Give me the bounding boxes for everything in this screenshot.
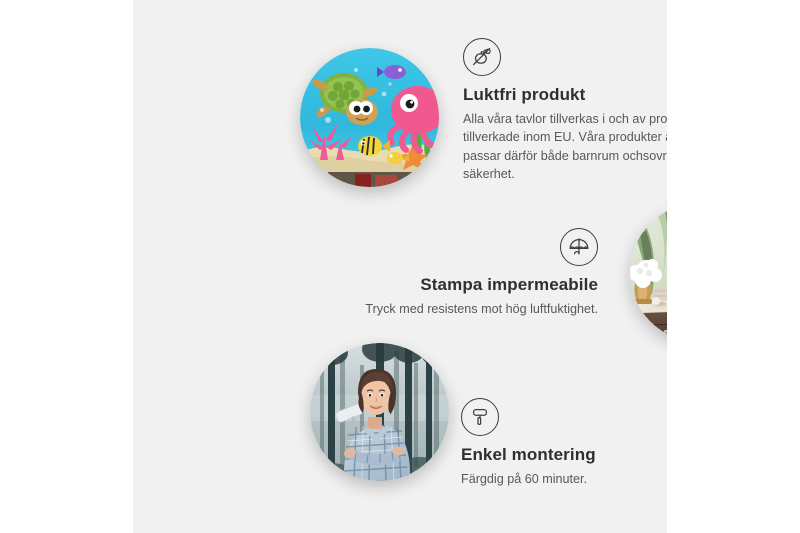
photo-forest xyxy=(310,343,449,481)
feature-waterproof-body: Tryck med resistens mot hög luftfuktighe… xyxy=(333,300,598,319)
photo-underwater xyxy=(300,48,439,187)
feature-waterproof-icon-wrap xyxy=(333,228,598,266)
feature-waterproof: Stampa impermeabile Tryck med resistens … xyxy=(333,228,598,318)
feature-odorless: Luktfri produkt Alla våra tavlor tillver… xyxy=(463,38,667,184)
feature-odorless-body: Alla våra tavlor tillverkas i och av pro… xyxy=(463,110,667,185)
perfume-bottle-crossed-out-icon xyxy=(463,38,501,76)
feature-easy-mount: Enkel montering Färgdig på 60 minuter. xyxy=(461,398,667,488)
content-panel: Luktfri produkt Alla våra tavlor tillver… xyxy=(133,0,667,533)
promo-feature-panel: Luktfri produkt Alla våra tavlor tillver… xyxy=(0,0,800,533)
feature-waterproof-title: Stampa impermeabile xyxy=(333,275,598,295)
paint-roller-icon xyxy=(461,398,499,436)
umbrella-icon xyxy=(560,228,598,266)
feature-easy-mount-title: Enkel montering xyxy=(461,445,667,465)
feature-odorless-title: Luktfri produkt xyxy=(463,85,667,105)
photo-bathroom xyxy=(630,203,667,342)
feature-odorless-icon-wrap xyxy=(463,38,667,76)
feature-easy-mount-icon-wrap xyxy=(461,398,667,436)
feature-easy-mount-body: Färgdig på 60 minuter. xyxy=(461,470,667,489)
